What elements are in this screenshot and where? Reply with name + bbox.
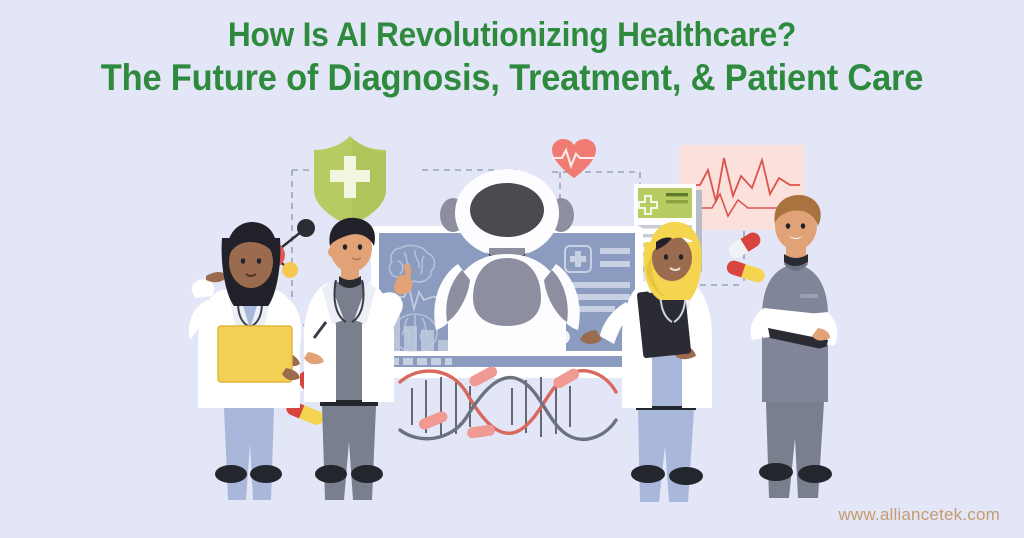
banner-canvas: How Is AI Revolutionizing Healthcare? Th… (0, 0, 1024, 538)
ai-monitor (371, 169, 643, 378)
title-line-2: The Future of Diagnosis, Treatment, & Pa… (36, 59, 988, 97)
page-title: How Is AI Revolutionizing Healthcare? Th… (0, 18, 1024, 96)
pill-capsules-icon (725, 230, 766, 284)
nurse-male-crossed-arms (751, 195, 838, 498)
title-line-1: How Is AI Revolutionizing Healthcare? (36, 18, 988, 53)
website-url[interactable]: www.alliancetek.com (838, 505, 1000, 525)
shield-cross-icon (314, 136, 386, 226)
doctor-female-folder (189, 222, 301, 500)
healthcare-ai-illustration (0, 130, 1024, 500)
